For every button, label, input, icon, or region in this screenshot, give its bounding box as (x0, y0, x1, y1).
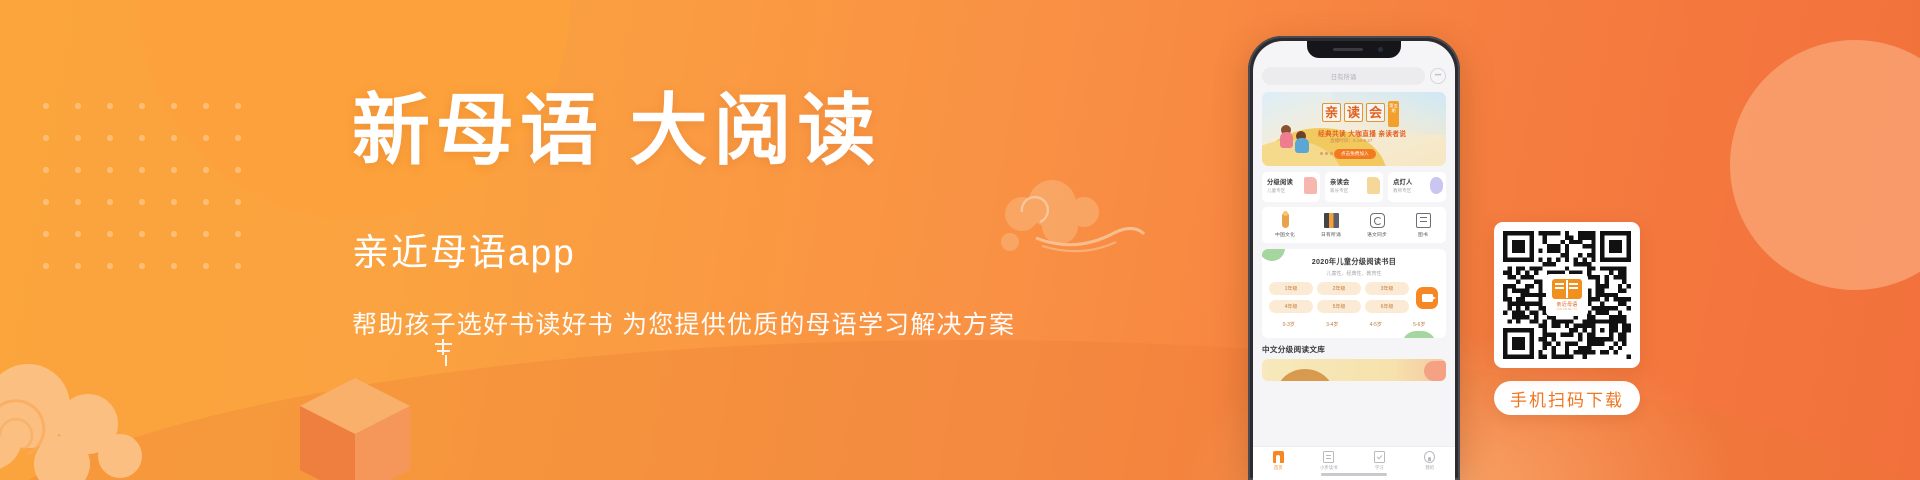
search-input[interactable]: 日有所诵 (1262, 67, 1425, 85)
books-icon (1324, 213, 1339, 228)
quick-link-label: 图书 (1400, 231, 1446, 238)
app-library-section: 中文分级阅读文库 (1262, 344, 1446, 381)
hero-cta-button[interactable]: 点击免费加入 (1334, 149, 1376, 159)
tab-profile[interactable]: 我的 (1405, 451, 1456, 471)
grade-pill[interactable]: 4年级 (1269, 300, 1313, 313)
banner-tagline: 帮助孩子选好书读好书 为您提供优质的母语学习解决方案 (352, 305, 1032, 341)
sync-icon (1370, 213, 1385, 228)
tab-label: 小步读书 (1304, 465, 1355, 471)
home-indicator (1321, 473, 1387, 476)
decor-dot-grid (30, 90, 260, 280)
qr-center-logo: 亲近母语 QIN JIN MU YU (1546, 274, 1588, 316)
decor-stroke-mark (432, 338, 458, 368)
tab-label: 我的 (1405, 465, 1456, 471)
grade-pill[interactable]: 2年级 (1317, 282, 1361, 295)
book-shape-icon (1304, 177, 1317, 194)
quick-link-label: 日有所诵 (1308, 231, 1354, 238)
category-card-teacher[interactable]: 点灯人 教师专区 (1388, 172, 1446, 202)
hero-child-b (1295, 138, 1309, 153)
library-cover[interactable] (1262, 359, 1446, 381)
grade-pill[interactable]: 1年级 (1269, 282, 1313, 295)
grade-section-subtitle: 儿童性、经典性、教育性 (1269, 270, 1439, 277)
phone-mockup: 日有所诵 ••• 亲 读 会 第五期 经典共读 大咖直播 亲读者说 (1248, 36, 1460, 480)
app-grade-booklist: 2020年儿童分级阅读书目 儿童性、经典性、教育性 1年级 2年级 3年级 4年… (1262, 249, 1446, 338)
age-pill[interactable]: 4-5岁 (1356, 318, 1396, 331)
hero-title-char-1: 读 (1344, 103, 1363, 122)
book-icon (1416, 213, 1431, 228)
app-quick-links: 中国文化 日有所诵 语文同步 图书 (1262, 207, 1446, 243)
age-pill[interactable]: 5-6岁 (1400, 318, 1440, 331)
promo-banner: 新母语 大阅读 亲近母语app 帮助孩子选好书读好书 为您提供优质的母语学习解决… (0, 0, 1920, 480)
hero-pager-dots[interactable] (1320, 152, 1333, 155)
wave-shape-icon (1430, 177, 1443, 194)
vase-icon (1282, 213, 1289, 228)
quick-link-label: 中国文化 (1262, 231, 1308, 238)
tab-label: 学习 (1354, 465, 1405, 471)
quick-link-daily-recite[interactable]: 日有所诵 (1308, 213, 1354, 238)
hero-ribbon-badge: 第五期 (1388, 101, 1399, 127)
qr-logo-pinyin: QIN JIN MU YU (1557, 308, 1578, 311)
library-title: 中文分级阅读文库 (1262, 344, 1446, 355)
open-book-logo-icon (1552, 279, 1582, 299)
phone-screen: 日有所诵 ••• 亲 读 会 第五期 经典共读 大咖直播 亲读者说 (1253, 41, 1455, 480)
person-icon (1424, 451, 1435, 463)
decor-circle-top-right (1730, 40, 1920, 290)
checklist-icon (1374, 451, 1385, 463)
age-pill[interactable]: 0-3岁 (1269, 318, 1309, 331)
notch-speaker (1333, 48, 1363, 51)
grade-row: 4年级 5年级 6年级 (1269, 300, 1439, 313)
doc-icon (1323, 451, 1334, 463)
library-arc (1276, 369, 1334, 381)
notch-camera (1378, 47, 1383, 52)
tab-home[interactable]: 首页 (1253, 451, 1304, 471)
note-shape-icon (1367, 177, 1380, 194)
banner-copy: 新母语 大阅读 亲近母语app 帮助孩子选好书读好书 为您提供优质的母语学习解决… (352, 92, 1032, 341)
play-glyph (1422, 294, 1433, 302)
hero-child-a (1280, 132, 1293, 148)
age-pill[interactable]: 3-4岁 (1313, 318, 1353, 331)
tab-label: 首页 (1253, 465, 1304, 471)
qr-code-card[interactable]: 亲近母语 QIN JIN MU YU (1494, 222, 1640, 368)
hero-date: 直播时间：9.16-9.27 (1330, 138, 1372, 144)
qr-download-block: 亲近母语 QIN JIN MU YU 手机扫码下载 (1494, 222, 1640, 415)
scan-download-button[interactable]: 手机扫码下载 (1494, 381, 1640, 415)
grade-pill[interactable]: 5年级 (1317, 300, 1361, 313)
app-category-cards: 分级阅读 儿童专区 亲读会 家长专区 点灯人 教师专区 (1262, 172, 1446, 202)
library-blob (1424, 361, 1446, 381)
hero-title-char-0: 亲 (1322, 103, 1341, 122)
banner-subtitle: 亲近母语app (352, 222, 1032, 276)
category-card-graded-reading[interactable]: 分级阅读 儿童专区 (1262, 172, 1320, 202)
home-icon (1273, 451, 1284, 463)
quick-link-chinese-culture[interactable]: 中国文化 (1262, 213, 1308, 238)
page-title: 新母语 大阅读 (352, 92, 1032, 170)
video-play-icon[interactable] (1416, 287, 1438, 309)
tab-study[interactable]: 学习 (1354, 451, 1405, 471)
grade-row: 0-3岁 3-4岁 4-5岁 5-6岁 (1269, 318, 1439, 331)
ellipsis-icon[interactable]: ••• (1430, 68, 1446, 84)
hero-title-char-2: 会 (1366, 103, 1385, 122)
phone-notch (1307, 41, 1401, 58)
tab-reading[interactable]: 小步读书 (1304, 451, 1355, 471)
qr-logo-text: 亲近母语 (1556, 301, 1577, 308)
decor-leaf-b (1402, 331, 1436, 338)
quick-link-label: 语文同步 (1354, 231, 1400, 238)
grade-row: 1年级 2年级 3年级 (1269, 282, 1439, 295)
quick-link-books[interactable]: 图书 (1400, 213, 1446, 238)
grade-section-title: 2020年儿童分级阅读书目 (1269, 257, 1439, 267)
grade-pill[interactable]: 3年级 (1365, 282, 1409, 295)
decor-cube (300, 378, 410, 480)
grade-pill[interactable]: 6年级 (1365, 300, 1409, 313)
app-search-bar: 日有所诵 ••• (1262, 67, 1446, 85)
hero-subtitle: 经典共读 大咖直播 亲读者说 (1318, 128, 1406, 138)
hero-title: 亲 读 会 (1322, 103, 1385, 122)
auspicious-cloud-icon (0, 336, 220, 480)
quick-link-textbook-sync[interactable]: 语文同步 (1354, 213, 1400, 238)
category-card-parent-club[interactable]: 亲读会 家长专区 (1325, 172, 1383, 202)
app-hero-banner[interactable]: 亲 读 会 第五期 经典共读 大咖直播 亲读者说 直播时间：9.16-9.27 … (1262, 92, 1446, 166)
